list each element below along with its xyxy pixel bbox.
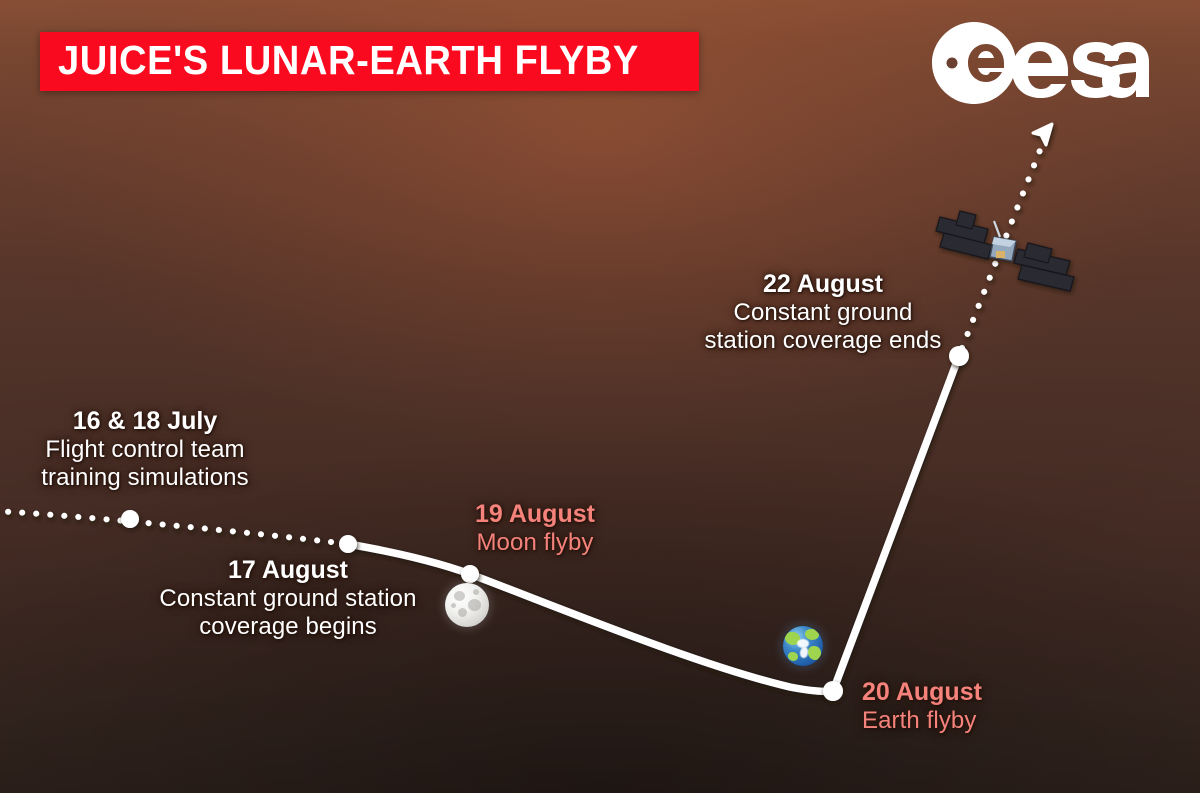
solar-panel-left bbox=[936, 211, 992, 259]
title-banner: JUICE'S LUNAR-EARTH FLYBY bbox=[40, 32, 699, 91]
marker-aug20-earth-flyby bbox=[823, 681, 843, 701]
event-label-aug17-coverage-begins: 17 August Constant ground station covera… bbox=[118, 556, 458, 641]
event-date: 16 & 18 July bbox=[0, 407, 290, 436]
trajectory-diagram bbox=[0, 0, 1200, 793]
event-date: 19 August bbox=[440, 500, 630, 529]
solar-panel-right bbox=[1014, 243, 1074, 291]
spacecraft-body bbox=[990, 237, 1016, 261]
event-date: 17 August bbox=[118, 556, 458, 585]
esa-logo[interactable] bbox=[928, 18, 1158, 108]
event-label-aug19-moon-flyby: 19 August Moon flyby bbox=[440, 500, 630, 557]
event-label-aug20-earth-flyby: 20 August Earth flyby bbox=[862, 678, 1062, 735]
page-title: JUICE'S LUNAR-EARTH FLYBY bbox=[58, 39, 639, 82]
marker-aug19-moon-flyby bbox=[461, 565, 479, 583]
marker-july-sims bbox=[121, 510, 139, 528]
event-description: Flight control team training simulations bbox=[0, 436, 290, 492]
event-description: Constant ground station coverage begins bbox=[118, 585, 458, 641]
event-label-july-sims: 16 & 18 July Flight control team trainin… bbox=[0, 407, 290, 492]
event-date: 22 August bbox=[668, 270, 978, 299]
trajectory-dotted-inbound bbox=[0, 511, 348, 544]
event-date: 20 August bbox=[862, 678, 1062, 707]
marker-aug17-coverage-begins bbox=[339, 535, 357, 553]
event-description: Moon flyby bbox=[440, 529, 630, 557]
infographic-canvas: JUICE'S LUNAR-EARTH FLYBY 16 & 18 July F… bbox=[0, 0, 1200, 793]
outbound-arrow-icon bbox=[1033, 124, 1052, 145]
event-description: Earth flyby bbox=[862, 707, 1062, 735]
event-label-aug22-coverage-ends: 22 August Constant ground station covera… bbox=[668, 270, 978, 355]
event-description: Constant ground station coverage ends bbox=[668, 299, 978, 355]
